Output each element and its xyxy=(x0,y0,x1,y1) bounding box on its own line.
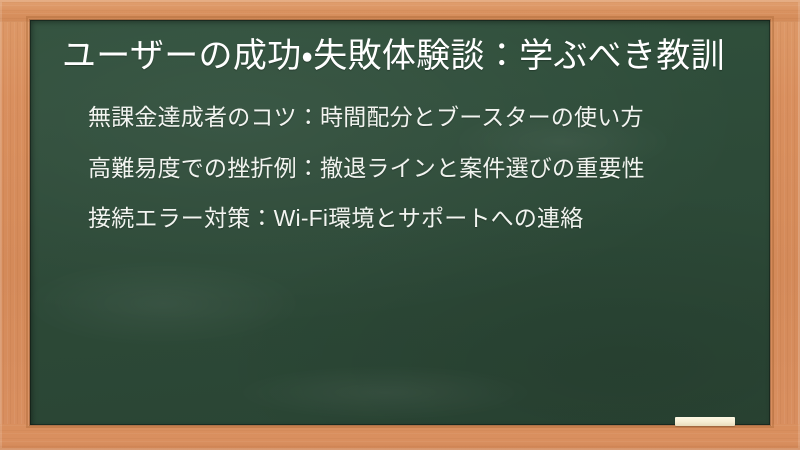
chalkboard-surface: ユーザーの成功・失敗体験談：学ぶべき教訓 無課金達成者のコツ：時間配分とブースタ… xyxy=(30,20,770,425)
frame-rail-bottom xyxy=(0,424,800,450)
topic-list: 無課金達成者のコツ：時間配分とブースターの使い方 高難易度での挫折例：撤退ライン… xyxy=(58,101,736,235)
list-item: 接続エラー対策：Wi-Fi環境とサポートへの連絡 xyxy=(88,202,718,235)
frame-rail-top xyxy=(0,0,800,22)
board-content: ユーザーの成功・失敗体験談：学ぶべき教訓 無課金達成者のコツ：時間配分とブースタ… xyxy=(30,20,770,425)
slide-title: ユーザーの成功・失敗体験談：学ぶべき教訓 xyxy=(58,34,736,79)
list-item: 高難易度での挫折例：撤退ラインと案件選びの重要性 xyxy=(88,152,718,185)
list-item: 無課金達成者のコツ：時間配分とブースターの使い方 xyxy=(88,101,718,134)
chalk-piece-icon xyxy=(675,417,735,426)
chalkboard-slide: ユーザーの成功・失敗体験談：学ぶべき教訓 無課金達成者のコツ：時間配分とブースタ… xyxy=(0,0,800,450)
